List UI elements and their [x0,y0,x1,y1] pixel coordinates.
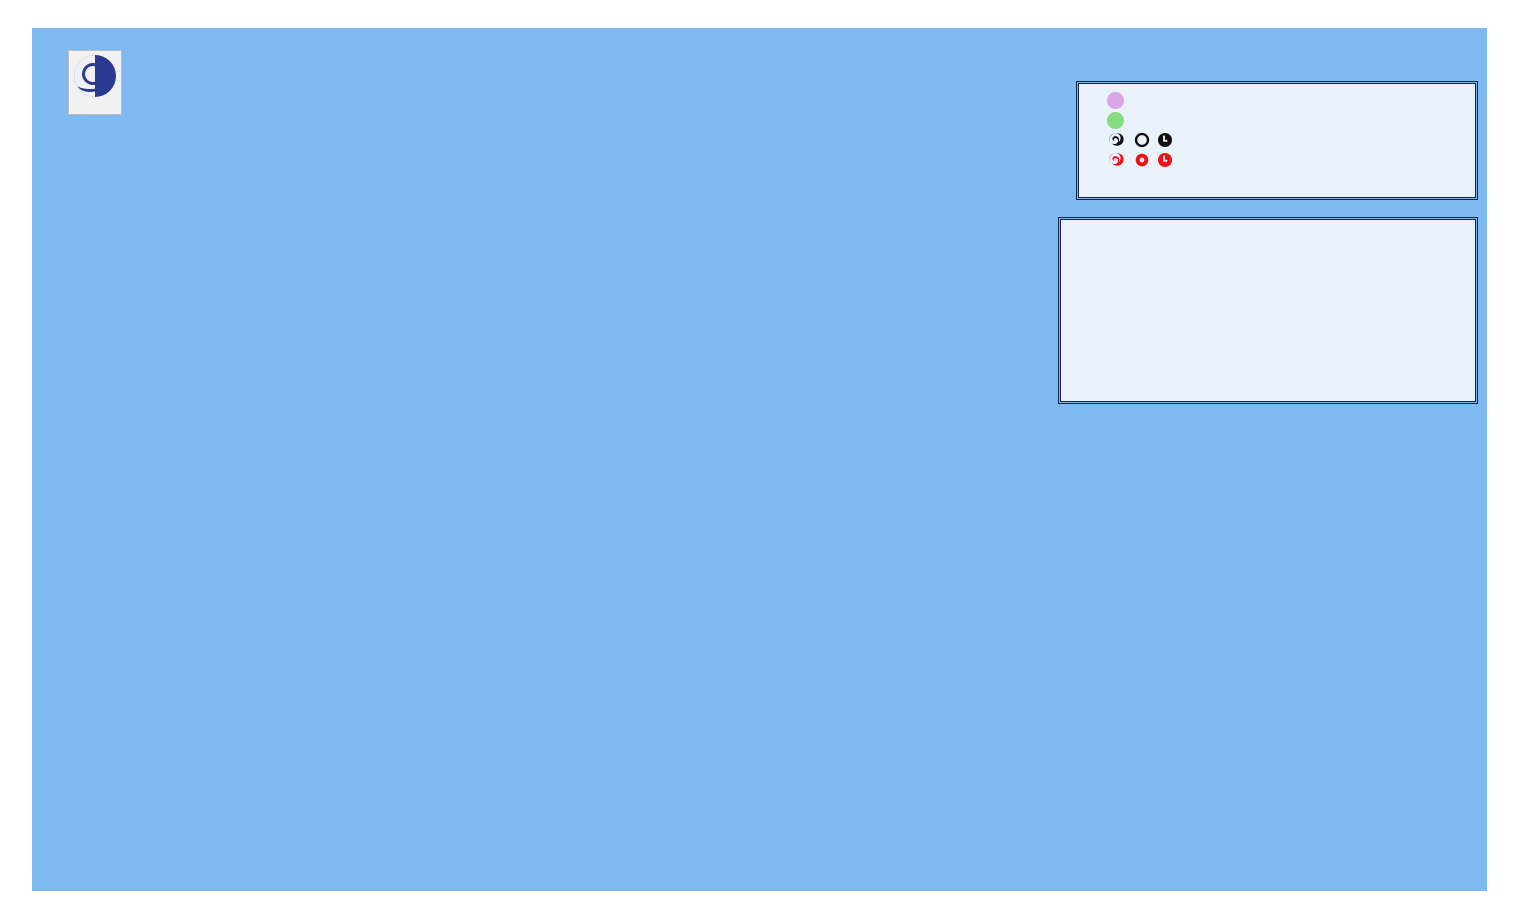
legend-item-past-positions [1079,130,1475,150]
axis-bottom [0,891,1519,919]
col-vmax [1276,227,1284,228]
axis-top [0,0,1519,28]
axis-right [1487,0,1519,919]
col-lon [1260,227,1268,228]
storm-icon-black [1107,131,1127,150]
plum-circle-icon [1093,92,1179,109]
legend-item-track-zone [1079,110,1475,130]
storm-icon-red [1107,151,1127,170]
low-icon-black [1157,132,1173,148]
red-storm-symbol-icons [1093,151,1179,170]
typhoon-forecast-map [0,0,1519,919]
col-pmin [1284,227,1292,228]
legend-item-wind-zone [1079,90,1475,110]
logo-mark-icon [68,50,122,115]
legend-item-current-forecast [1079,150,1475,170]
axis-left [0,0,32,919]
nchmf-logo [68,50,132,115]
depression-icon-red [1134,152,1150,168]
forecast-table [1244,227,1292,228]
low-icon-red [1157,152,1173,168]
storm-info-panel [1060,219,1476,402]
col-datetime [1244,227,1252,228]
green-circle-icon [1093,112,1179,129]
forecast-table-header [1244,227,1292,228]
depression-icon-black [1134,132,1150,148]
black-storm-symbol-icons [1093,131,1179,150]
col-lat [1252,227,1260,228]
legend-panel [1078,83,1476,198]
col-cap [1268,227,1276,228]
